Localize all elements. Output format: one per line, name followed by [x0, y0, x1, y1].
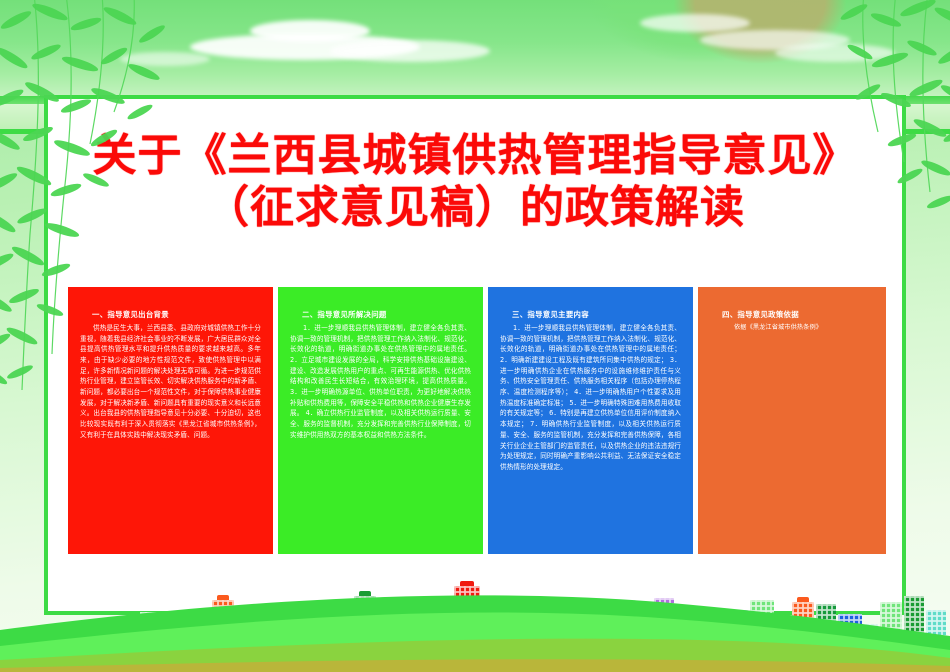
panel-heading: 四、指导意见政策依据	[710, 309, 874, 320]
cloud-icon	[775, 44, 895, 62]
panel-basis[interactable]: 四、指导意见政策依据 依据《黑龙江省城市供热条例》	[698, 287, 886, 554]
panel-heading: 三、指导意见主要内容	[500, 309, 681, 320]
cloud-icon	[640, 14, 750, 32]
bottom-decoration	[0, 562, 950, 672]
panel-background[interactable]: 一、指导意见出台背景 供热是民生大事，兰西县委、县政府对城镇供热工作十分重视，随…	[68, 287, 273, 554]
panel-body: 1．进一步理顺我县供热管理体制，建立健全各负其责、协调一致的管理机制，把供热管理…	[500, 323, 681, 472]
title-line-2: （征求意见稿）的政策解读	[44, 182, 906, 234]
page-title: 关于《兰西县城镇供热管理指导意见》 （征求意见稿）的政策解读	[44, 130, 906, 234]
sky-background	[0, 0, 950, 100]
panel-heading: 二、指导意见所解决问题	[290, 309, 471, 320]
poster-canvas: 关于《兰西县城镇供热管理指导意见》 （征求意见稿）的政策解读 一、指导意见出台背…	[0, 0, 950, 672]
title-line-1: 关于《兰西县城镇供热管理指导意见》	[44, 130, 906, 182]
cloud-icon	[250, 20, 370, 42]
panel-body: 供热是民生大事，兰西县委、县政府对城镇供热工作十分重视，随着我县经济社会事业的不…	[80, 323, 261, 440]
cloud-icon	[330, 40, 490, 62]
panel-problems[interactable]: 二、指导意见所解决问题 1．进一步理顺我县供热管理体制，建立健全各负其责、协调一…	[278, 287, 483, 554]
panel-body: 依据《黑龙江省城市供热条例》	[710, 323, 874, 333]
panel-body: 1．进一步理顺我县供热管理体制，建立健全各负其责、协调一致的管理机制，把供热管理…	[290, 323, 471, 440]
green-hill-icon	[0, 562, 950, 672]
panel-heading: 一、指导意见出台背景	[80, 309, 261, 320]
cloud-icon	[120, 52, 210, 66]
panel-group: 一、指导意见出台背景 供热是民生大事，兰西县委、县政府对城镇供热工作十分重视，随…	[68, 287, 886, 554]
panel-content[interactable]: 三、指导意见主要内容 1．进一步理顺我县供热管理体制，建立健全各负其责、协调一致…	[488, 287, 693, 554]
